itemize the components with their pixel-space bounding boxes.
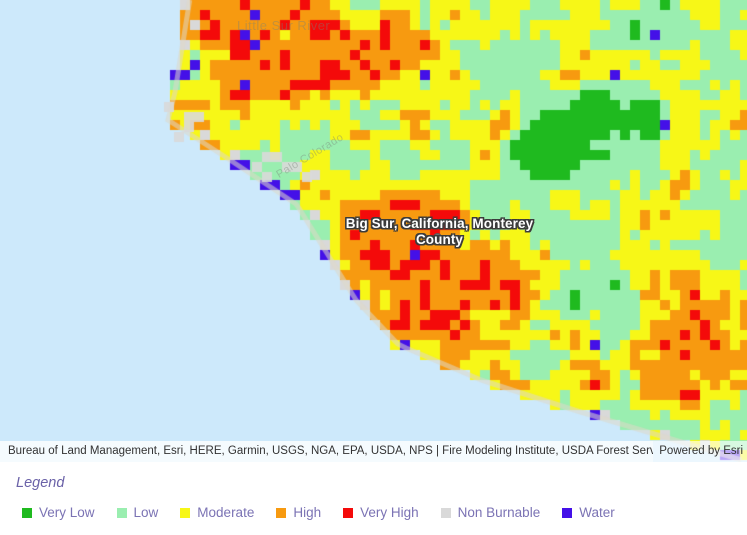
legend-swatch-icon xyxy=(180,508,190,518)
legend-item-label: Moderate xyxy=(197,505,254,520)
attribution-text[interactable]: Bureau of Land Management, Esri, HERE, G… xyxy=(0,441,653,462)
legend-item-non-burnable[interactable]: Non Burnable xyxy=(441,505,541,520)
attribution-bar: Bureau of Land Management, Esri, HERE, G… xyxy=(0,441,747,462)
map-application: Little Sur River Palo Colorado Big Sur, … xyxy=(0,0,747,535)
legend-item-high[interactable]: High xyxy=(276,505,321,520)
legend-item-water[interactable]: Water xyxy=(562,505,615,520)
legend-item-label: High xyxy=(293,505,321,520)
legend-swatch-icon xyxy=(276,508,286,518)
legend-item-label: Non Burnable xyxy=(458,505,541,520)
legend-swatch-icon xyxy=(562,508,572,518)
legend-swatch-icon xyxy=(22,508,32,518)
legend-panel: Legend Very LowLowModerateHighVery HighN… xyxy=(0,462,747,535)
powered-by-esri-link[interactable]: Powered by Esri xyxy=(653,441,747,462)
legend-item-label: Low xyxy=(134,505,159,520)
map-viewport[interactable]: Little Sur River Palo Colorado Big Sur, … xyxy=(0,0,747,462)
legend-swatch-icon xyxy=(117,508,127,518)
place-marker-dot[interactable] xyxy=(433,233,442,242)
legend-swatch-icon xyxy=(441,508,451,518)
legend-item-very-low[interactable]: Very Low xyxy=(22,505,95,520)
legend-swatch-icon xyxy=(343,508,353,518)
legend-items-list: Very LowLowModerateHighVery HighNon Burn… xyxy=(22,505,615,520)
legend-item-moderate[interactable]: Moderate xyxy=(180,505,254,520)
wildfire-hazard-raster-layer[interactable] xyxy=(0,0,747,462)
legend-item-label: Very Low xyxy=(39,505,95,520)
legend-item-very-high[interactable]: Very High xyxy=(343,505,419,520)
legend-item-low[interactable]: Low xyxy=(117,505,159,520)
legend-title: Legend xyxy=(16,475,64,491)
legend-item-label: Water xyxy=(579,505,615,520)
legend-item-label: Very High xyxy=(360,505,419,520)
